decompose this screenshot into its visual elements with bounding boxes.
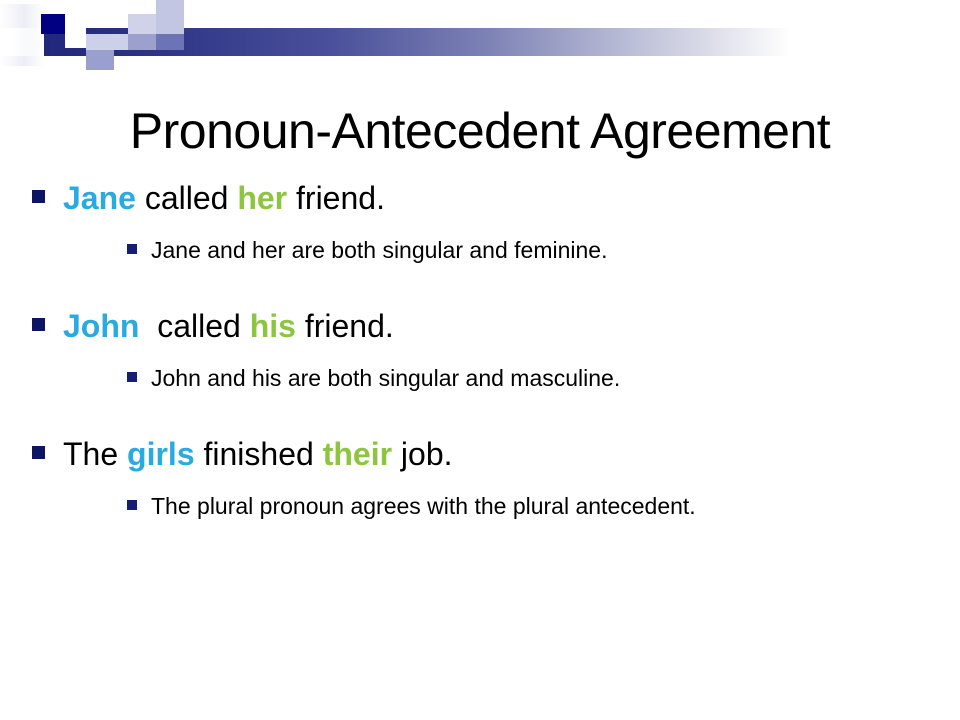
bullet-level1: Jane called her friend.	[32, 176, 932, 220]
text-run-green: her	[237, 180, 287, 216]
bullet-level2: The plural pronoun agrees with the plura…	[127, 490, 932, 522]
text-run-black: friend.	[287, 180, 385, 216]
text-run-blue: John	[63, 308, 139, 344]
text-run-green: his	[250, 308, 296, 344]
bullet-level2-text: John and his are both singular and mascu…	[151, 362, 620, 394]
bullet-level1: The girls finished their job.	[32, 432, 932, 476]
lavender-square-1	[128, 14, 156, 34]
white-gap-square	[65, 14, 86, 48]
bullet-level2: John and his are both singular and mascu…	[127, 362, 932, 394]
bullet-group: The girls finished their job. The plural…	[32, 432, 932, 522]
bullet-level2-text: The plural pronoun agrees with the plura…	[151, 490, 696, 522]
text-run-blue: girls	[127, 436, 195, 472]
lavender-square-6	[86, 50, 114, 70]
lavender-square-3	[86, 34, 128, 50]
square-subbullet-icon	[127, 372, 137, 382]
bullet-level1-text: John called his friend.	[63, 304, 394, 348]
header-bar-left-fade	[0, 28, 40, 56]
bullet-level2: Jane and her are both singular and femin…	[127, 234, 932, 266]
slide: Pronoun-Antecedent Agreement Jane called…	[0, 0, 960, 720]
bullet-level2-text: Jane and her are both singular and femin…	[151, 234, 607, 266]
slide-title: Pronoun-Antecedent Agreement	[0, 102, 960, 160]
text-run-black: The	[63, 436, 127, 472]
bullet-level1-text: The girls finished their job.	[63, 432, 453, 476]
bullet-level1: John called his friend.	[32, 304, 932, 348]
text-run-black: called	[136, 180, 237, 216]
square-subbullet-icon	[127, 500, 137, 510]
slide-body: Jane called her friend. Jane and her are…	[32, 176, 932, 522]
text-run-blue: Jane	[63, 180, 136, 216]
text-run-black: called	[139, 308, 249, 344]
lavender-square-4	[128, 34, 156, 50]
square-bullet-icon	[32, 318, 45, 331]
text-run-green: their	[323, 436, 392, 472]
text-run-black: job.	[392, 436, 452, 472]
lavender-square-2	[156, 0, 184, 34]
text-run-black: friend.	[296, 308, 394, 344]
bullet-group: Jane called her friend. Jane and her are…	[32, 176, 932, 266]
text-run-black: finished	[195, 436, 323, 472]
navy-square	[41, 14, 65, 34]
header-decoration	[0, 0, 960, 64]
bullet-group: John called his friend. John and his are…	[32, 304, 932, 394]
square-subbullet-icon	[127, 244, 137, 254]
square-bullet-icon	[32, 446, 45, 459]
lavender-square-5	[156, 34, 184, 50]
bullet-level1-text: Jane called her friend.	[63, 176, 385, 220]
square-bullet-icon	[32, 190, 45, 203]
